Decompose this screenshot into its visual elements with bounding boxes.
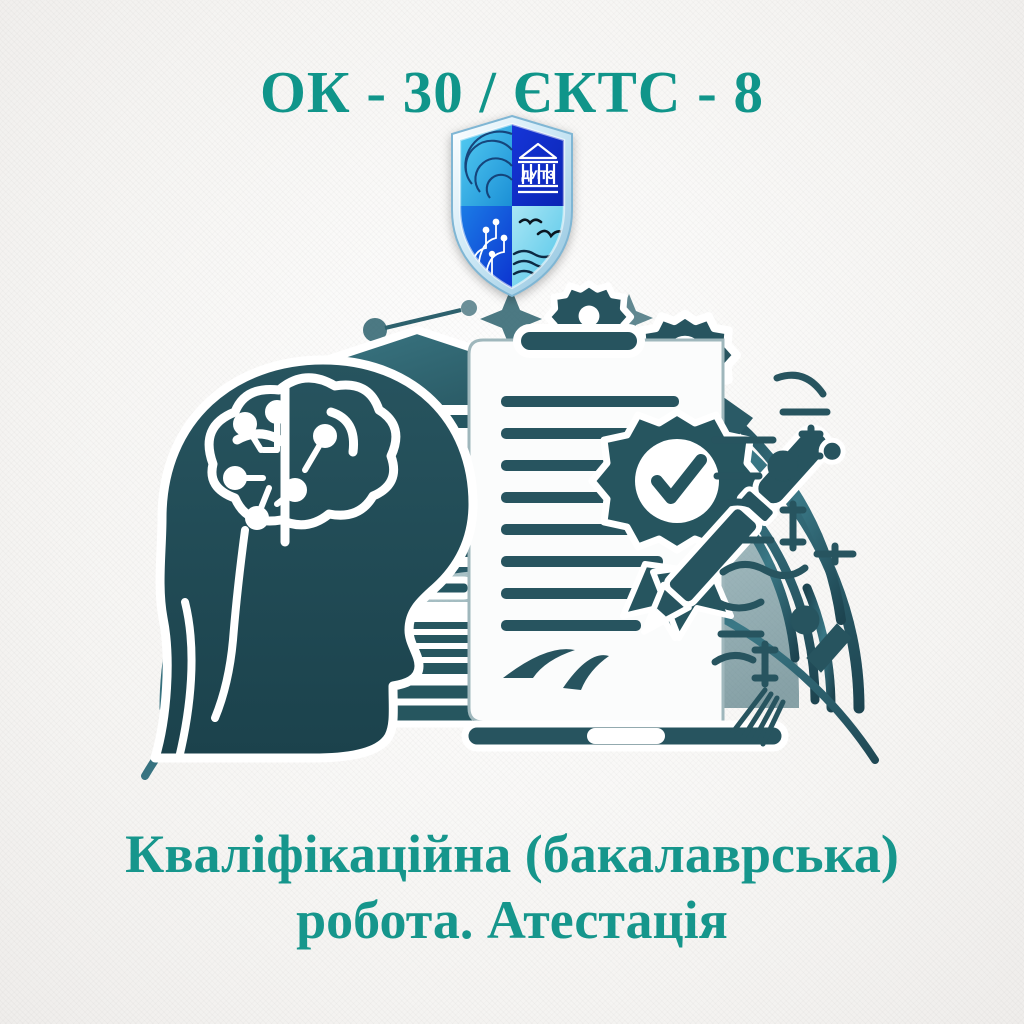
university-shield: ДУІТЗ xyxy=(446,112,578,302)
footer-title-line-2: робота. Атестація xyxy=(32,888,992,954)
footer-title: Кваліфікаційна (бакалаврська) робота. Ат… xyxy=(0,822,1024,954)
shield-abbreviation: ДУІТЗ xyxy=(522,170,555,182)
footer-title-line-1: Кваліфікаційна (бакалаврська) xyxy=(32,822,992,888)
